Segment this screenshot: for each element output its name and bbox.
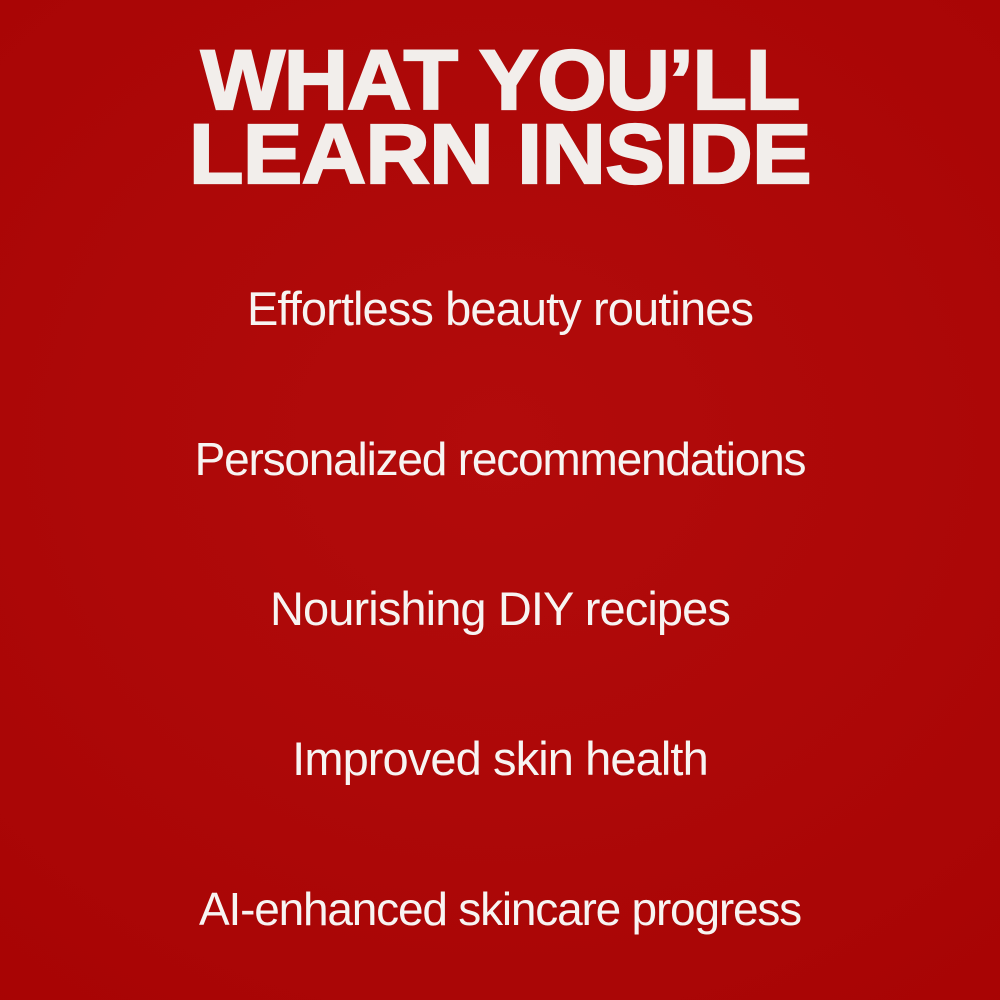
list-item: Personalized recommendations <box>0 384 1000 534</box>
benefits-list: Effortless beauty routines Personalized … <box>0 234 1000 984</box>
list-item: Nourishing DIY recipes <box>0 534 1000 684</box>
list-item: Effortless beauty routines <box>0 234 1000 384</box>
list-item: AI-enhanced skincare progress <box>0 834 1000 984</box>
page-title-line-2: LEARN INSIDE <box>0 118 1000 190</box>
list-item: Improved skin health <box>0 684 1000 834</box>
page-title-line-1: WHAT YOU’LL <box>0 44 1000 116</box>
page-title: WHAT YOU’LL LEARN INSIDE <box>0 44 1000 190</box>
promo-slide: WHAT YOU’LL LEARN INSIDE Effortless beau… <box>0 0 1000 1000</box>
